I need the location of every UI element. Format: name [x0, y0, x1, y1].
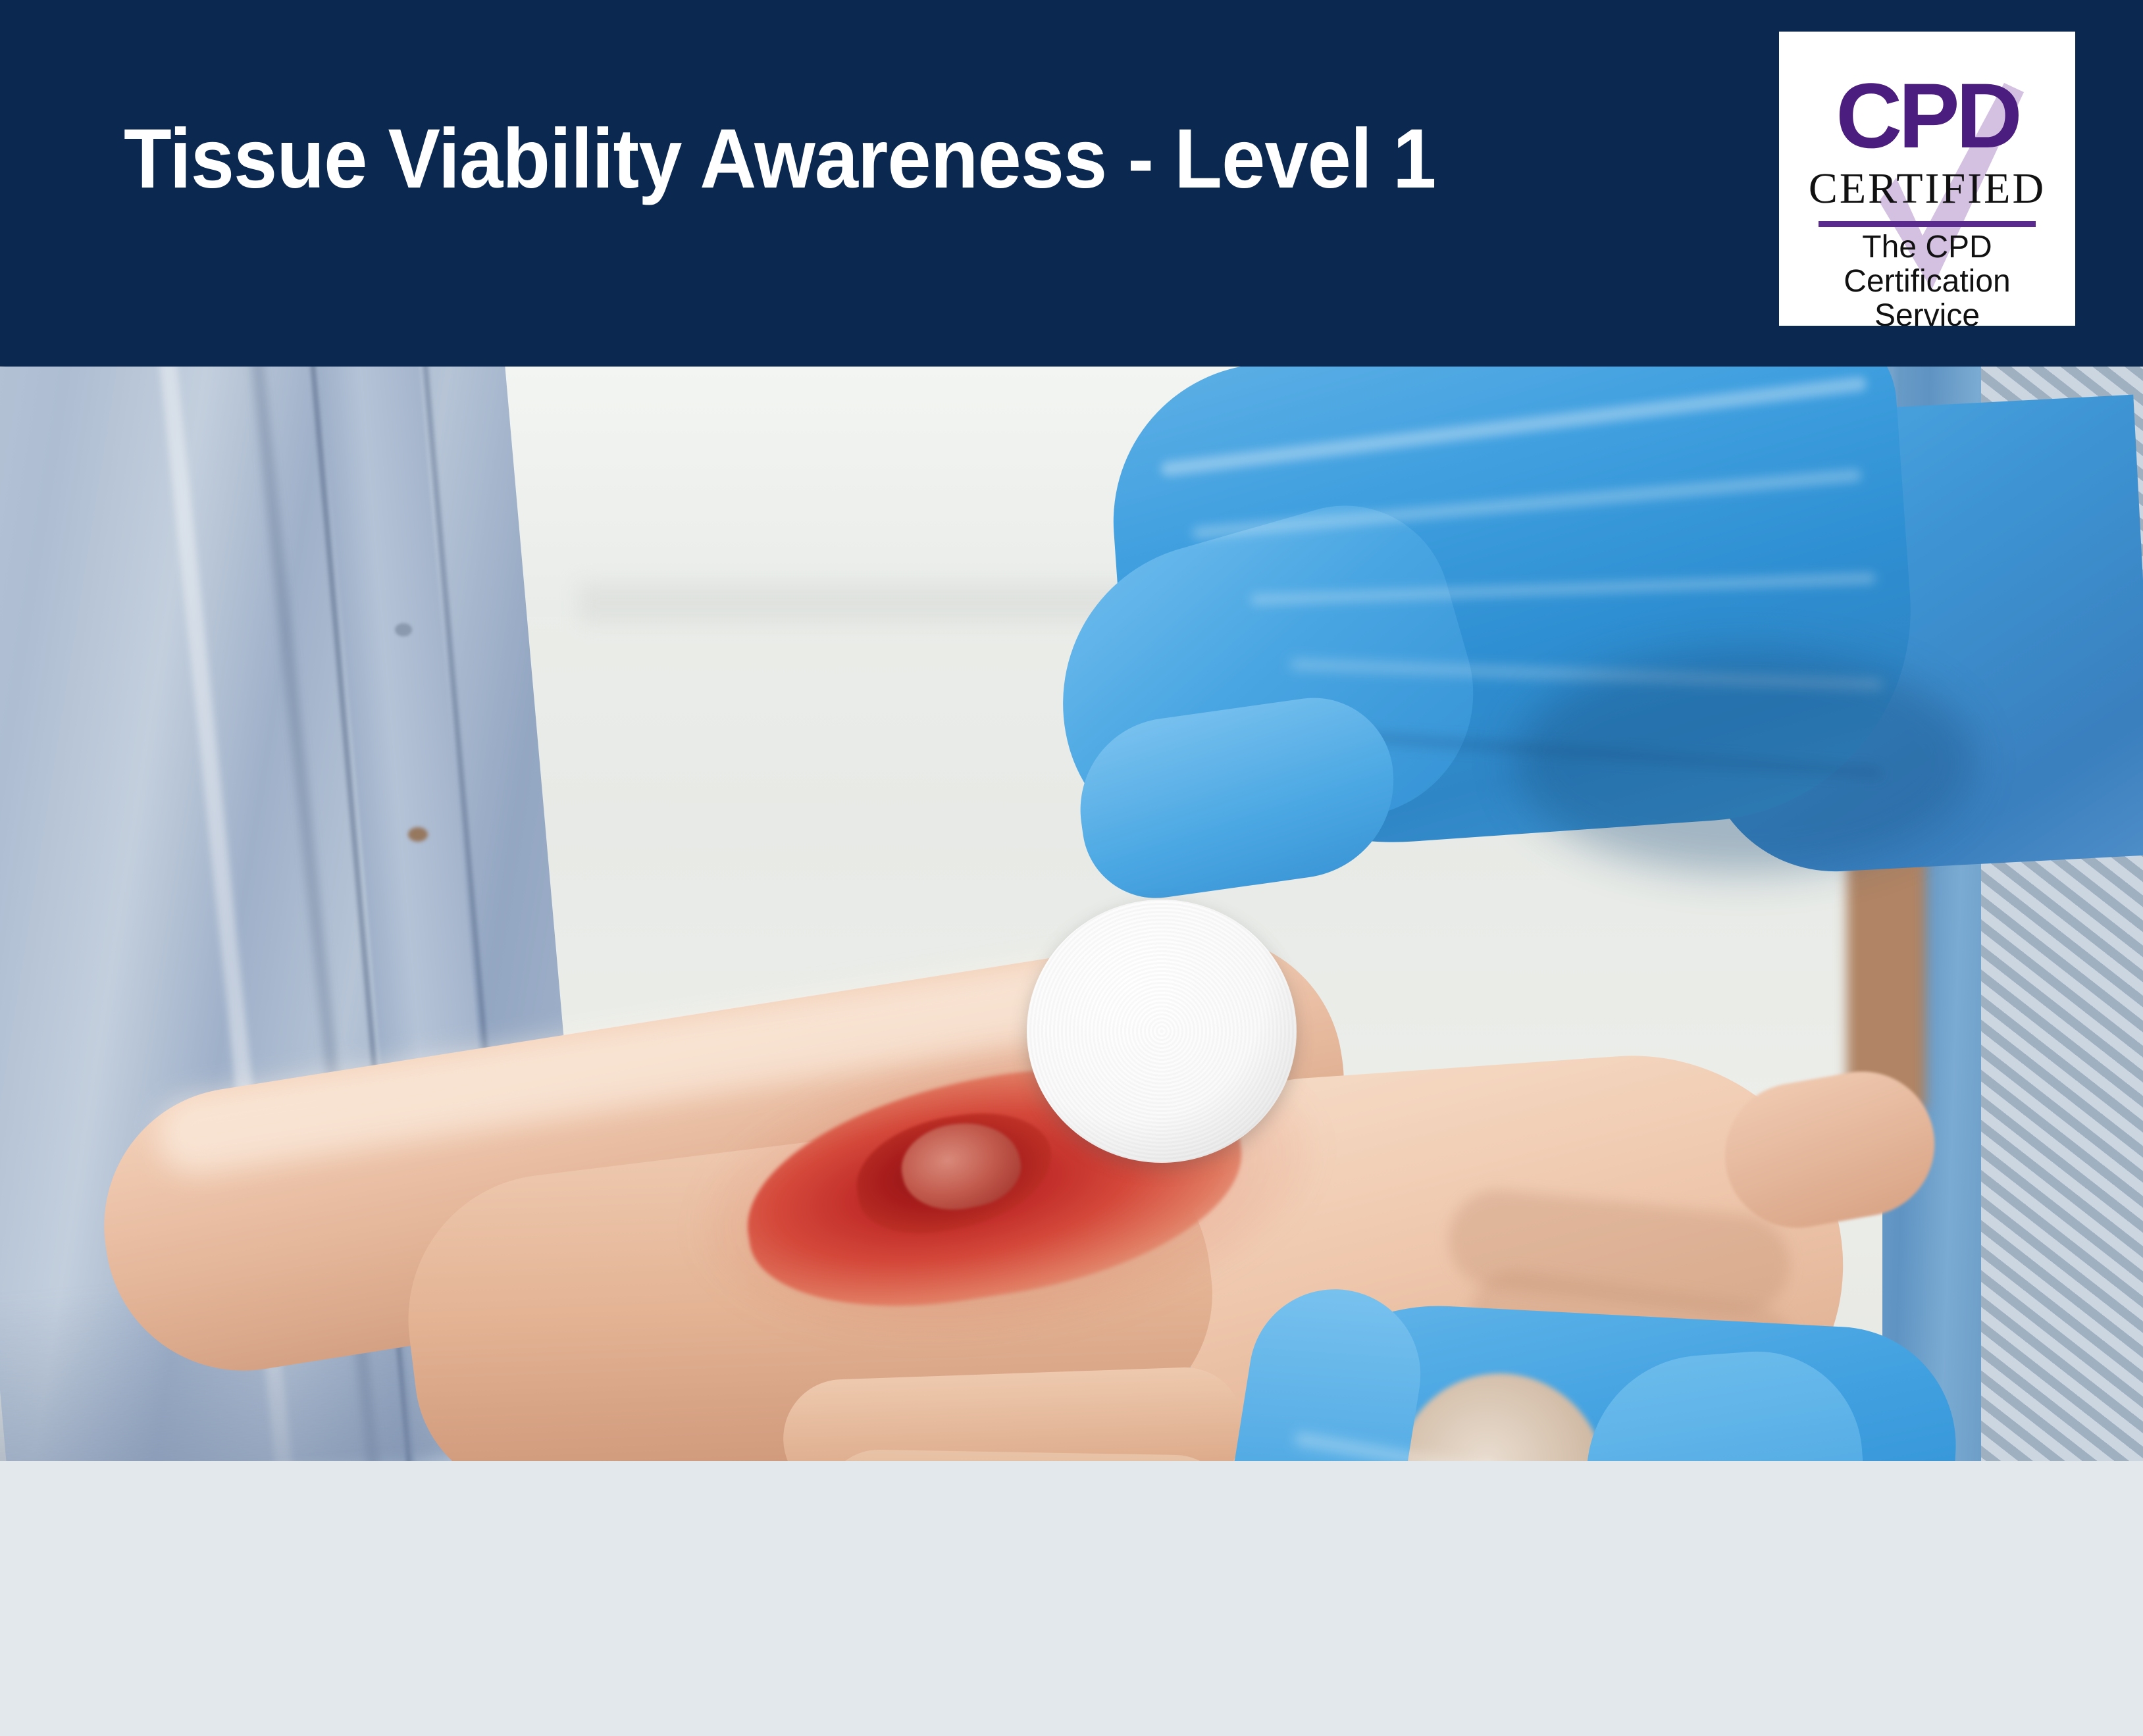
cpd-certified-badge: CPD CERTIFIED The CPD Certification Serv…	[1779, 32, 2075, 326]
photo-shirt-button-upper	[395, 623, 412, 636]
course-cover-page: Tissue Viability Awareness - Level 1 CPD…	[0, 0, 2143, 1736]
course-hero-photo	[0, 367, 2143, 1461]
page-title: Tissue Viability Awareness - Level 1	[124, 117, 1435, 201]
cpd-service-line-1: The CPD Certification	[1844, 230, 2010, 299]
cpd-service-text: The CPD Certification Service	[1788, 230, 2066, 326]
photo-shirt-button-lower	[408, 827, 428, 842]
header-bar: Tissue Viability Awareness - Level 1 CPD…	[0, 0, 2143, 367]
photo-support-finger-1	[781, 1366, 1246, 1461]
photo-upper-glove-shadow	[1514, 650, 1975, 873]
cpd-divider-rule	[1819, 221, 2036, 227]
photo-cotton-pad-texture	[1027, 900, 1297, 1163]
cpd-acronym: CPD	[1779, 70, 2075, 162]
cpd-service-line-2: Service	[1874, 298, 1980, 326]
footer-bar: Online Course Mandatory Training Group P…	[0, 1461, 2143, 1736]
cpd-certified-word: CERTIFIED	[1779, 167, 2075, 211]
